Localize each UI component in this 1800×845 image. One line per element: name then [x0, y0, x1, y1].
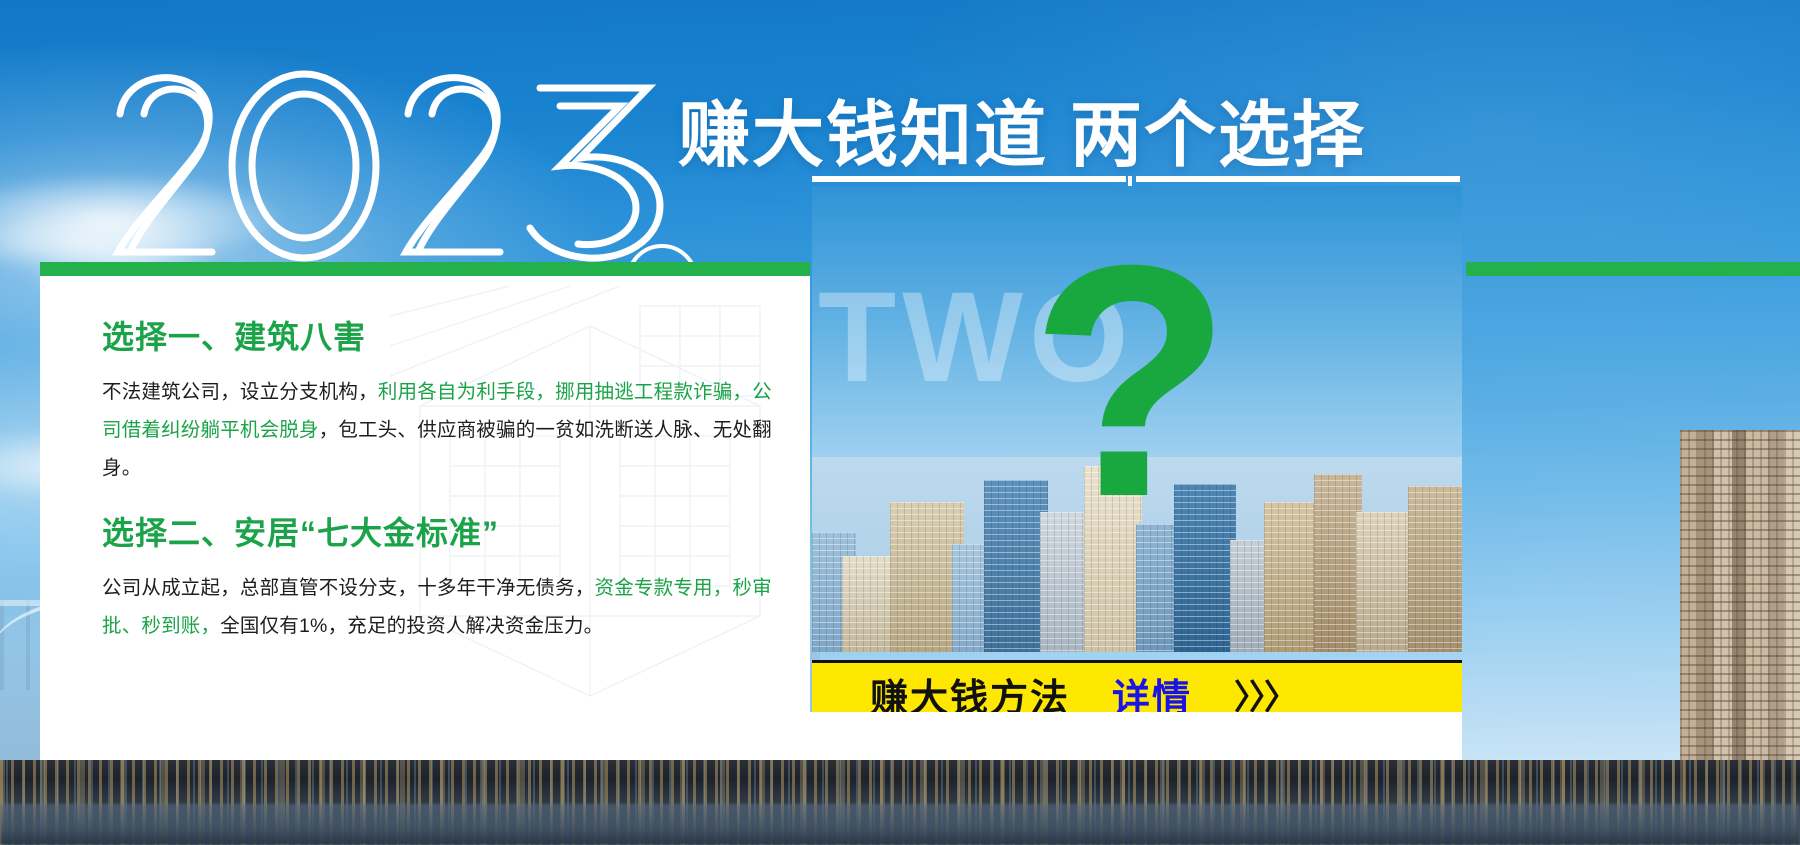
year-graphic: 年	[108, 62, 708, 272]
year-2023-outline-icon	[108, 62, 708, 272]
section-body: 公司从成立起，总部直管不设分支，十多年干净无债务，资金专款专用，秒审批、秒到账，…	[102, 569, 780, 645]
right-edge-buildings-photo	[1680, 430, 1800, 760]
section-body: 不法建筑公司，设立分支机构，利用各自为利手段，挪用抽逃工程款诈骗，公司借着纠纷躺…	[102, 373, 780, 487]
building	[1408, 486, 1462, 652]
section-choice-two: 选择二、安居“七大金标准” 公司从成立起，总部直管不设分支，十多年干净无债务，资…	[40, 516, 810, 645]
green-accent-bar-right	[1466, 262, 1800, 276]
card-accent-bar	[40, 262, 810, 276]
banner-stage: 年 赚大钱知道 两个选择 TWO CHOICES	[0, 0, 1800, 845]
question-mark-icon: ?	[1030, 216, 1232, 546]
section-choice-one: 选择一、建筑八害 不法建筑公司，设立分支机构，利用各自为利手段，挪用抽逃工程款诈…	[102, 320, 780, 487]
building	[1314, 474, 1362, 652]
page-title: 赚大钱知道 两个选择	[678, 76, 1366, 181]
section-title: 选择一、建筑八害	[102, 320, 780, 355]
choices-panel: TWO CHOICES ?	[812, 186, 1462, 652]
body-run: 公司从成立起，总部直管不设分支，十多年干净无债务，	[102, 577, 595, 599]
headline-rule-right	[1136, 176, 1460, 182]
bottom-photo-strip	[0, 760, 1800, 845]
card-pedestal	[40, 712, 1462, 760]
water-reflection	[0, 804, 1800, 845]
content-card: 选择一、建筑八害 不法建筑公司，设立分支机构，利用各自为利手段，挪用抽逃工程款诈…	[40, 276, 810, 712]
building	[1264, 502, 1320, 652]
card-content: 选择一、建筑八害 不法建筑公司，设立分支机构，利用各自为利手段，挪用抽逃工程款诈…	[40, 276, 810, 487]
building	[1356, 512, 1414, 652]
section-title: 选择二、安居“七大金标准”	[102, 516, 780, 551]
body-run: 全国仅有1%，充足的投资人解决资金压力。	[220, 615, 603, 637]
body-run: 不法建筑公司，设立分支机构，	[102, 381, 378, 403]
headline-rule-left	[812, 176, 1126, 182]
